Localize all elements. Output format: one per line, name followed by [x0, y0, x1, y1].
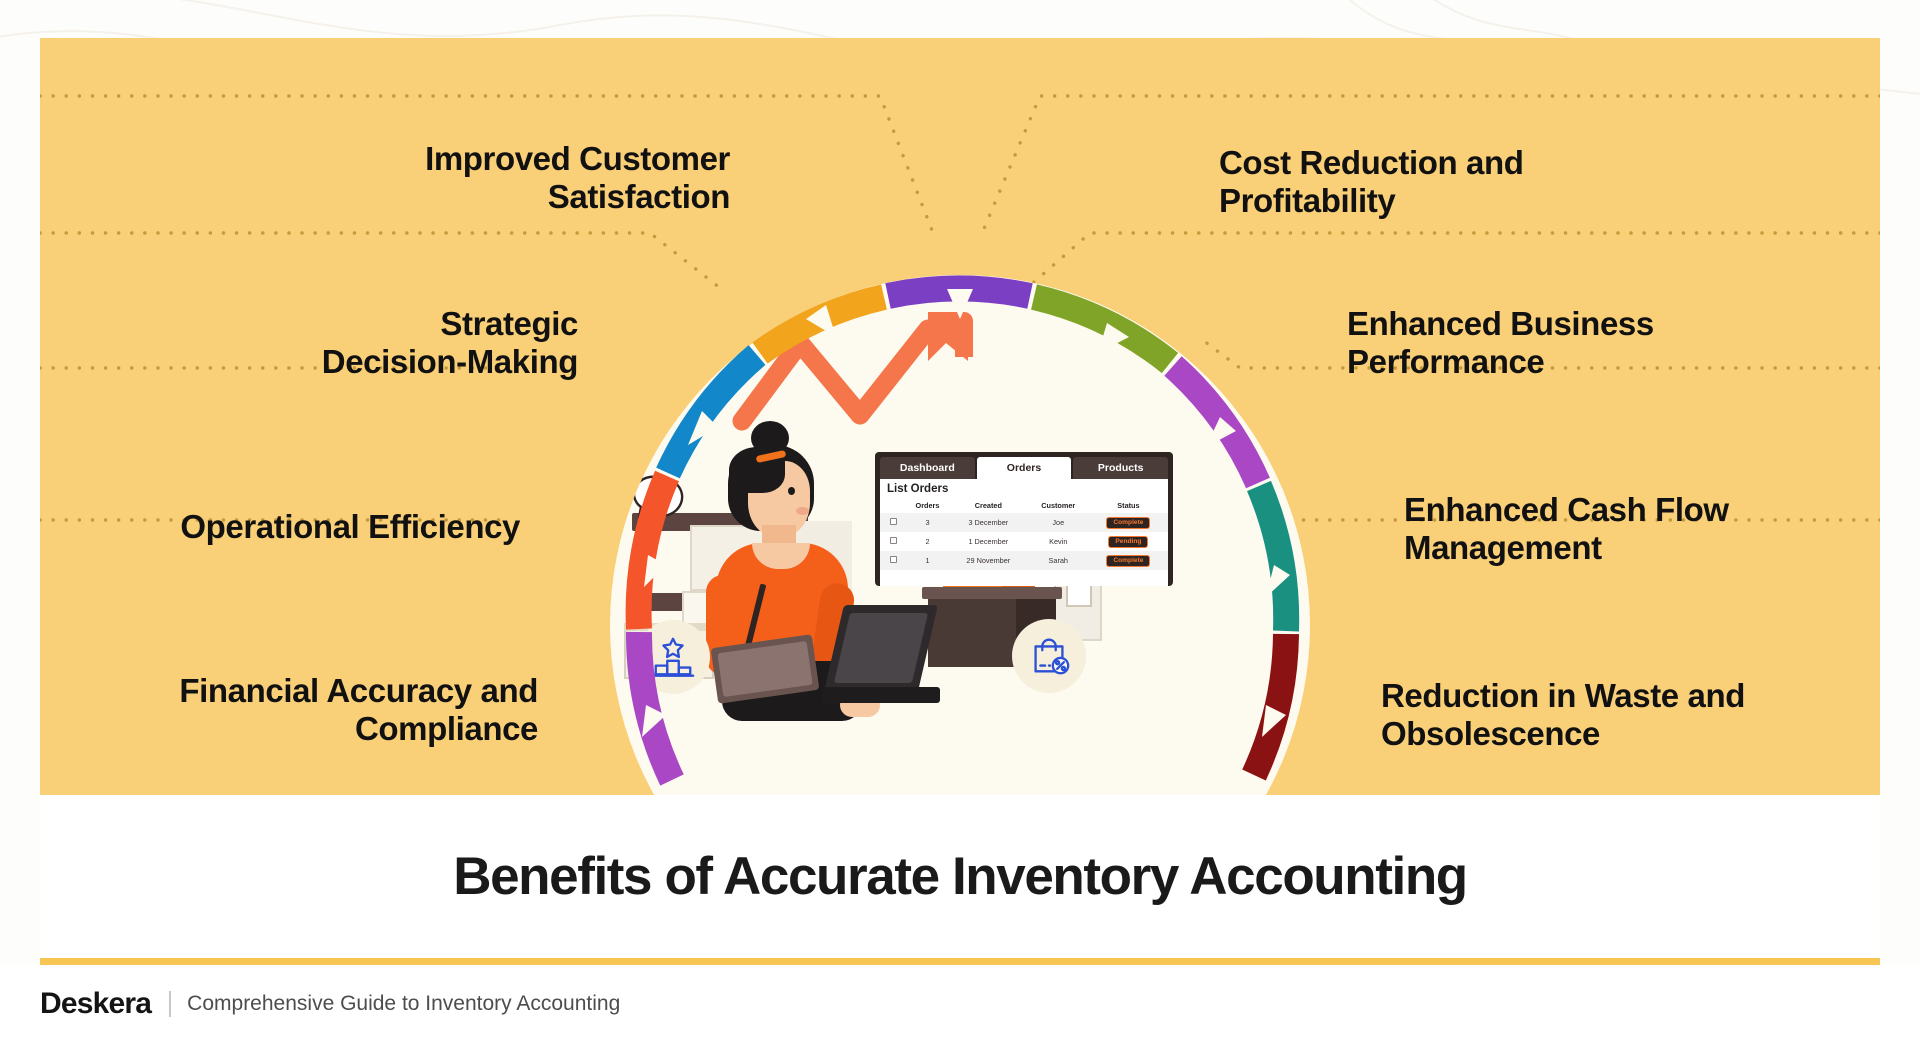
cell-status: Pending	[1089, 532, 1168, 551]
orders-table: Orders Created Customer Status 3 3 Decem…	[880, 498, 1168, 570]
benefit-cost-reduction-and-profitability: Cost Reduction and Profitability	[1219, 144, 1689, 221]
benefit-enhanced-cash-flow-management: Enhanced Cash Flow Management	[1404, 491, 1824, 568]
col-status: Status	[1089, 498, 1168, 513]
benefit-reduction-in-waste-and-obsolescence: Reduction in Waste and Obsolescence	[1381, 677, 1831, 754]
cell-status: Complete	[1089, 513, 1168, 532]
checkbox-icon[interactable]	[890, 518, 897, 525]
benefit-operational-efficiency: Operational Efficiency	[60, 508, 520, 546]
table-row[interactable]: 3 3 December Joe Complete	[880, 513, 1168, 532]
checkbox-icon[interactable]	[890, 556, 897, 563]
footer-divider	[169, 991, 171, 1017]
cell-customer: Kevin	[1028, 532, 1089, 551]
page-title: Benefits of Accurate Inventory Accountin…	[453, 846, 1467, 907]
col-select	[880, 498, 906, 513]
accent-divider-bar	[40, 958, 1880, 965]
tab-products[interactable]: Products	[1073, 457, 1168, 479]
cell-status: Complete	[1089, 551, 1168, 570]
col-created: Created	[949, 498, 1028, 513]
benefit-financial-accuracy-and-compliance: Financial Accuracy and Compliance	[60, 672, 538, 749]
cell-created: 29 November	[949, 551, 1028, 570]
title-band: Benefits of Accurate Inventory Accountin…	[40, 795, 1880, 958]
table-row[interactable]: 1 29 November Sarah Complete	[880, 551, 1168, 570]
tab-orders[interactable]: Orders	[977, 457, 1072, 479]
brand-logo: Deskera	[40, 987, 151, 1021]
row-checkbox-cell[interactable]	[880, 551, 906, 570]
footer-subtitle: Comprehensive Guide to Inventory Account…	[187, 992, 620, 1016]
benefit-improved-customer-satisfaction: Improved Customer Satisfaction	[240, 140, 730, 217]
list-orders-heading: List Orders	[880, 479, 1168, 498]
footer: Deskera Comprehensive Guide to Inventory…	[0, 965, 1920, 1042]
cell-created: 1 December	[949, 532, 1028, 551]
dashboard-body: List Orders Orders Created Customer Stat…	[880, 479, 1168, 586]
cell-order: 1	[906, 551, 949, 570]
benefit-strategic-decision-making: Strategic Decision-Making	[150, 305, 578, 382]
checkbox-icon[interactable]	[890, 537, 897, 544]
cell-order: 3	[906, 513, 949, 532]
col-orders: Orders	[906, 498, 949, 513]
col-customer: Customer	[1028, 498, 1089, 513]
benefit-enhanced-business-performance: Enhanced Business Performance	[1347, 305, 1817, 382]
dashboard-tabs: Dashboard Orders Products	[880, 457, 1168, 479]
row-checkbox-cell[interactable]	[880, 532, 906, 551]
table-header-row: Orders Created Customer Status	[880, 498, 1168, 513]
status-badge: Complete	[1106, 517, 1150, 529]
cell-order: 2	[906, 532, 949, 551]
orders-dashboard-mockup: Dashboard Orders Products List Orders Or…	[875, 452, 1173, 586]
cell-customer: Joe	[1028, 513, 1089, 532]
status-badge: Pending	[1108, 536, 1148, 548]
tab-dashboard[interactable]: Dashboard	[880, 457, 975, 479]
status-badge: Complete	[1106, 555, 1150, 567]
infographic-page: $	[0, 0, 1920, 1042]
cell-customer: Sarah	[1028, 551, 1089, 570]
row-checkbox-cell[interactable]	[880, 513, 906, 532]
table-row[interactable]: 2 1 December Kevin Pending	[880, 532, 1168, 551]
cell-created: 3 December	[949, 513, 1028, 532]
